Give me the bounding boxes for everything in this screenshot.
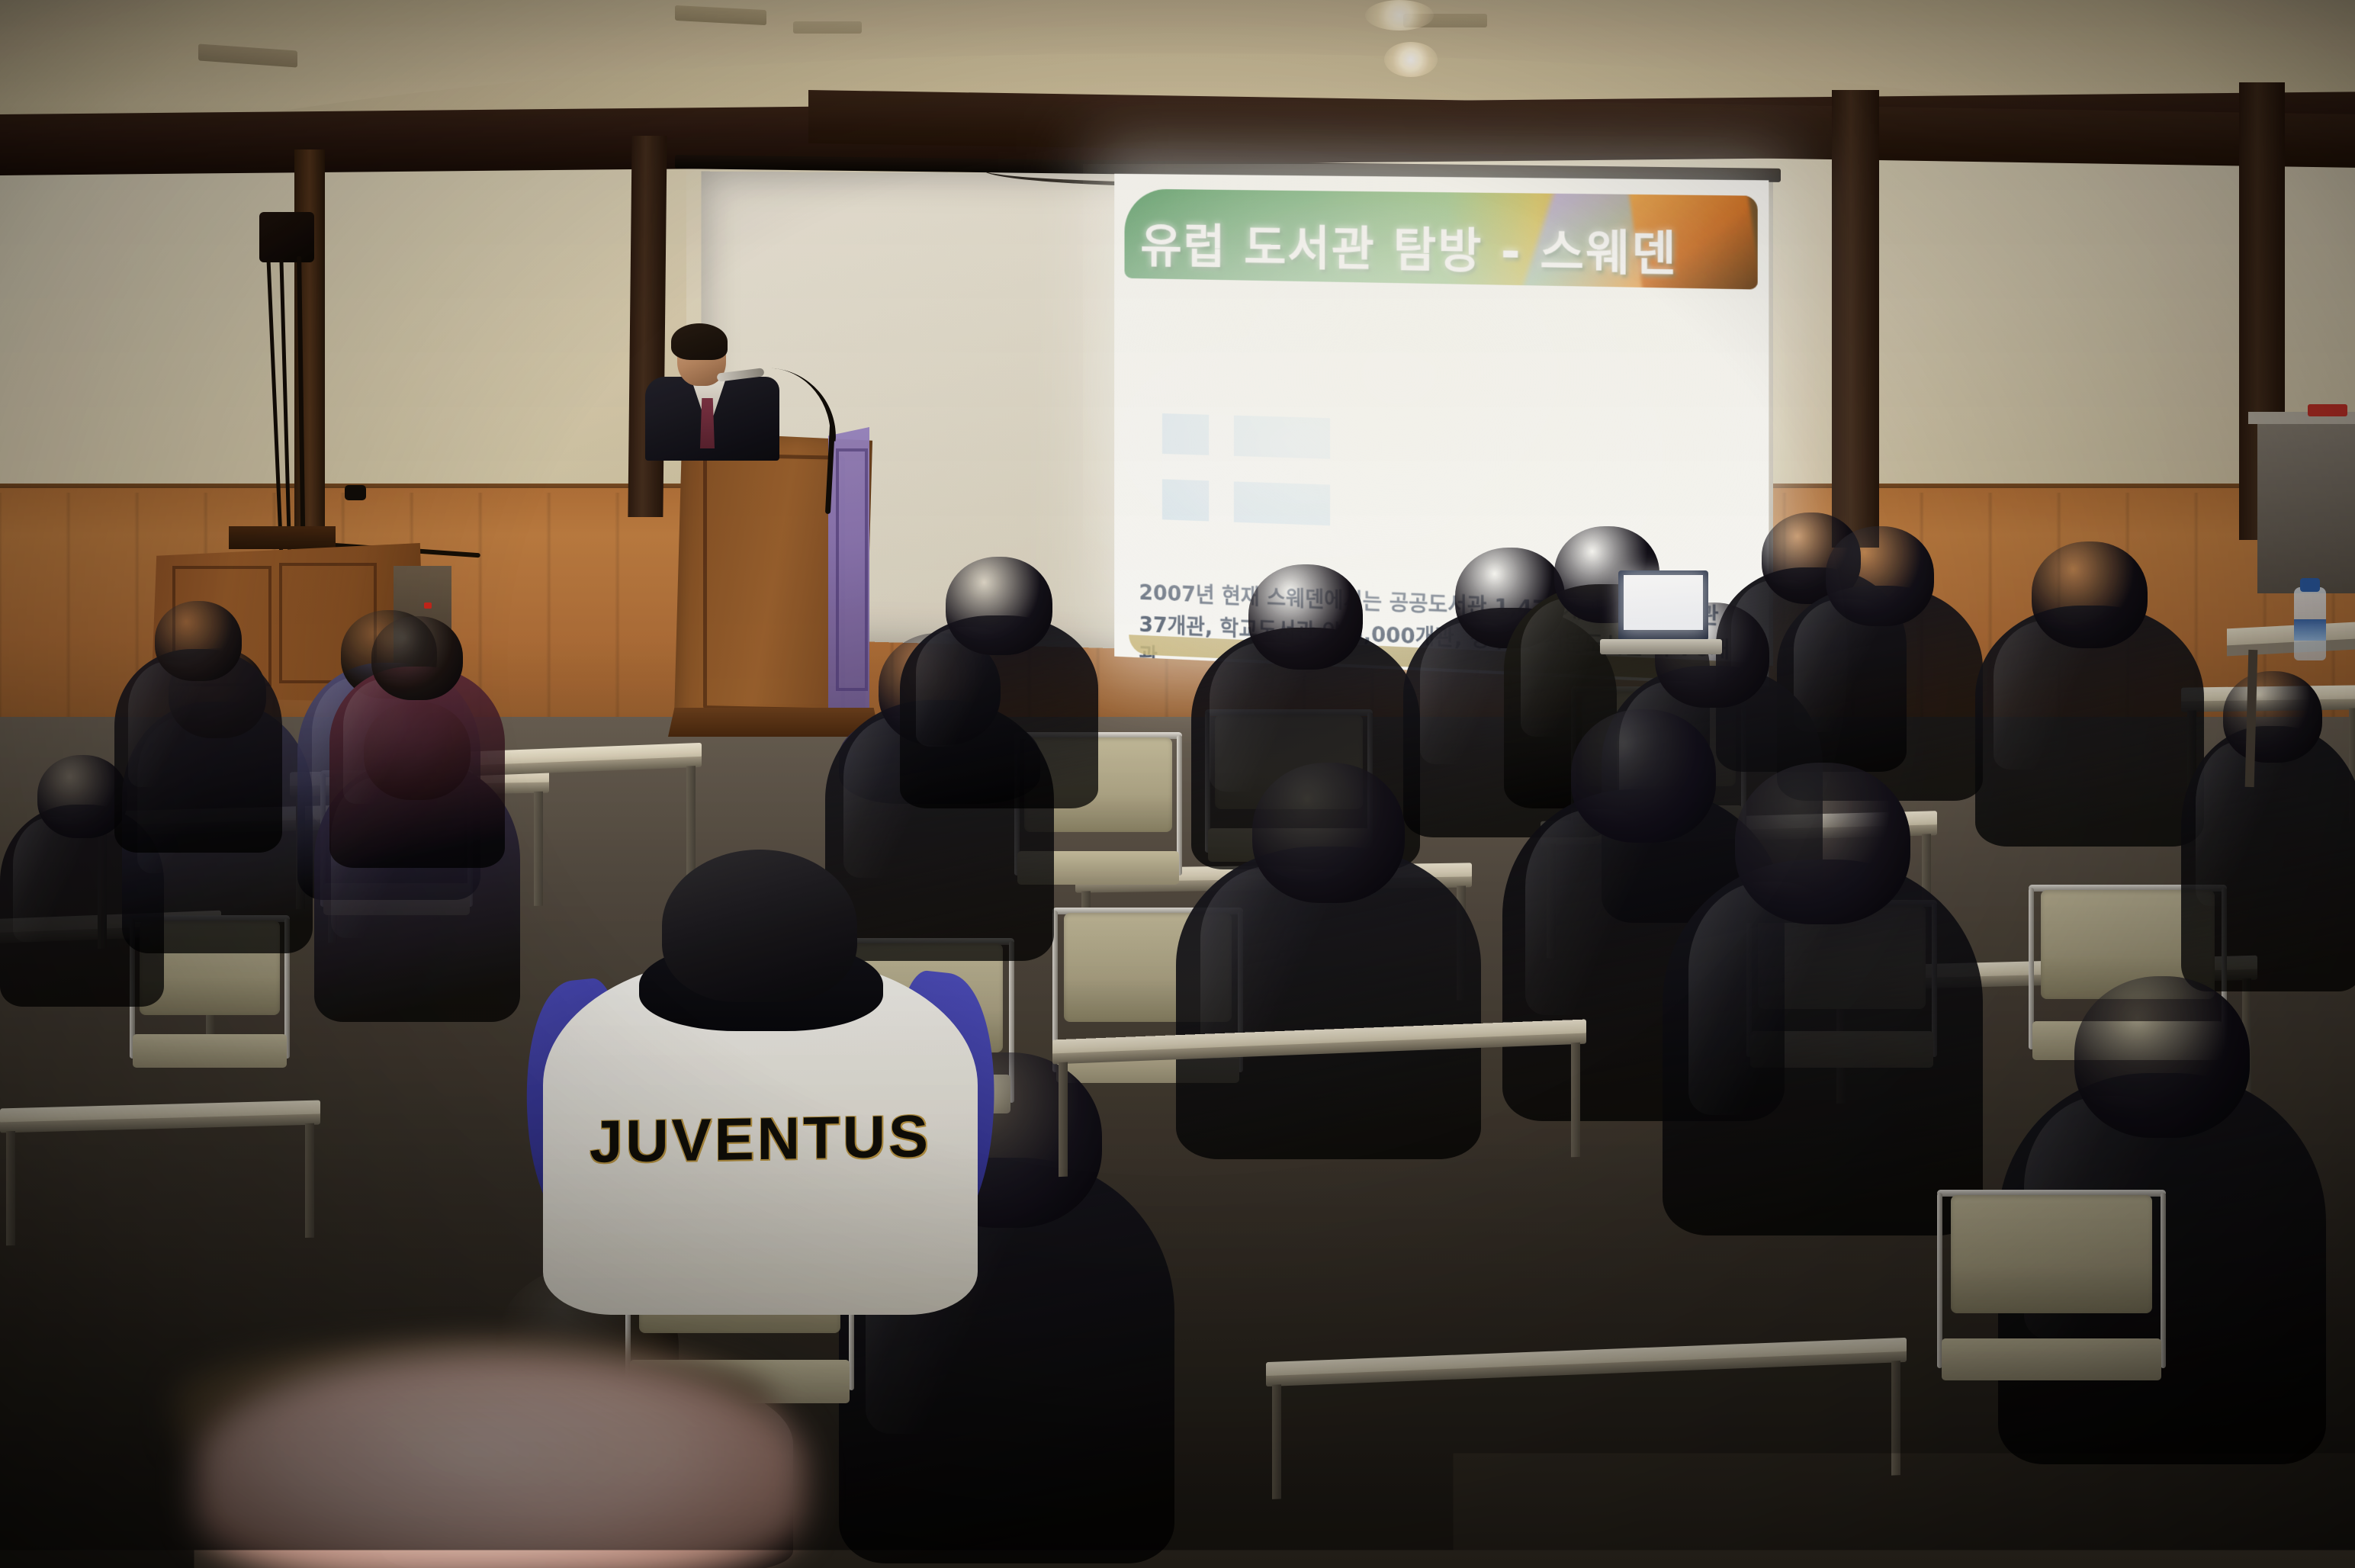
ceiling-downlight bbox=[1365, 0, 1434, 31]
flag-cross-horizontal bbox=[1162, 454, 1330, 485]
wall-knob[interactable] bbox=[345, 485, 366, 500]
audience-head bbox=[1826, 526, 1934, 626]
chair-seat bbox=[133, 1034, 287, 1068]
audience-member bbox=[900, 557, 1098, 808]
slide-title: 유럽 도서관 탐방 - 스웨덴 bbox=[1140, 208, 1677, 284]
audience-head bbox=[1248, 564, 1363, 670]
audience-head bbox=[2032, 541, 2148, 648]
desk-leg bbox=[1571, 1043, 1580, 1157]
desk-leg bbox=[534, 792, 543, 906]
wall-column bbox=[1832, 90, 1879, 548]
cabinet-top bbox=[229, 526, 336, 549]
audience-head bbox=[155, 601, 242, 681]
audience-member bbox=[114, 601, 282, 853]
chair-seat bbox=[1942, 1338, 2161, 1380]
audience-head bbox=[1735, 763, 1910, 924]
audience-head bbox=[662, 850, 857, 1002]
audience-head bbox=[1252, 763, 1405, 903]
audience-member bbox=[1176, 763, 1481, 1159]
water-bottle-label bbox=[2294, 619, 2326, 641]
presenter-hair bbox=[671, 323, 728, 360]
laptop[interactable] bbox=[1618, 570, 1708, 641]
audience-member bbox=[1663, 763, 1983, 1235]
chair-back-pad bbox=[1951, 1195, 2152, 1313]
audience-member bbox=[2181, 671, 2355, 991]
water-bottle-cap bbox=[2300, 578, 2320, 592]
audience-member bbox=[1975, 541, 2204, 847]
lecture-hall-photo: 유럽 도서관 탐방 - 스웨덴 2007년 현재 스웨덴에서는 공공도서관 1,… bbox=[0, 0, 2355, 1568]
desk-leg bbox=[6, 1131, 15, 1245]
red-object bbox=[2308, 404, 2347, 416]
jersey-text: JUVENTUS bbox=[543, 1100, 978, 1178]
chair-frame bbox=[2161, 1193, 2166, 1368]
equipment-table bbox=[2257, 418, 2355, 593]
desk-leg bbox=[1059, 1062, 1068, 1177]
desk-leg bbox=[305, 1123, 314, 1238]
audience-member bbox=[329, 616, 505, 868]
ceiling-downlight bbox=[1384, 42, 1438, 77]
audience-head bbox=[371, 616, 463, 700]
laptop-screen bbox=[1624, 575, 1703, 630]
audience-head bbox=[37, 755, 127, 838]
audience-torso bbox=[2181, 726, 2355, 992]
sweden-flag-icon bbox=[1162, 413, 1330, 525]
power-led-icon bbox=[424, 602, 432, 609]
desk-leg bbox=[1272, 1384, 1281, 1499]
audience-head bbox=[946, 557, 1052, 655]
chair bbox=[1937, 1190, 2166, 1380]
laptop-base bbox=[1600, 639, 1722, 654]
foreground-person bbox=[195, 1351, 805, 1568]
audience-head bbox=[2074, 976, 2250, 1138]
ceiling-vent bbox=[793, 21, 862, 34]
desk-leg bbox=[1891, 1361, 1900, 1475]
wall-speaker-icon bbox=[259, 212, 314, 262]
podium-panel bbox=[703, 453, 845, 712]
desk-leg bbox=[686, 766, 696, 880]
presenter-tie bbox=[700, 398, 715, 448]
audience-head bbox=[2223, 671, 2322, 763]
